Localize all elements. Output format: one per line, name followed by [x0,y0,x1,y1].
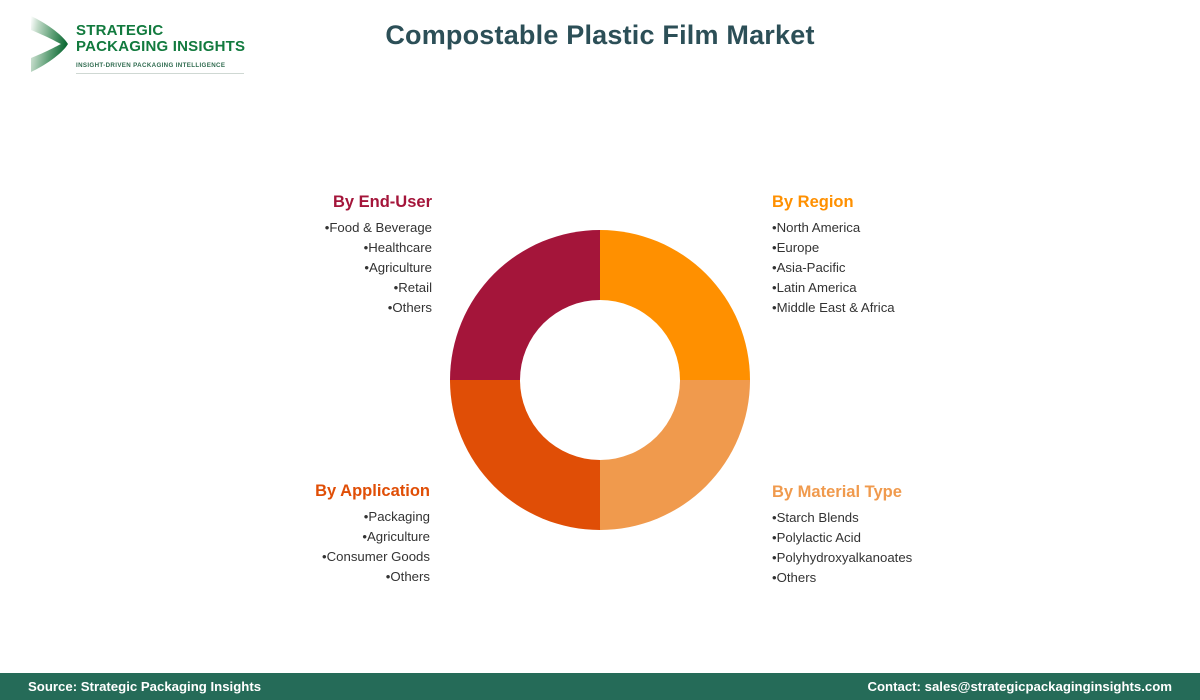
category-title-material-type: By Material Type [772,483,1102,502]
page-title: Compostable Plastic Film Market [0,20,1200,51]
category-list-material-type: Starch Blends Polylactic Acid Polyhydrox… [772,508,1102,588]
category-title-region: By Region [772,193,1072,212]
list-item: Middle East & Africa [772,298,1072,318]
list-item: Retail [180,278,432,298]
category-application: By Application Packaging Agriculture Con… [130,482,430,587]
list-item: Polyhydroxyalkanoates [772,548,1102,568]
list-item: Asia-Pacific [772,258,1072,278]
donut-center-hole [520,300,680,460]
category-material-type: By Material Type Starch Blends Polylacti… [772,483,1102,588]
logo-tagline: INSIGHT-DRIVEN PACKAGING INTELLIGENCE [76,62,245,69]
list-item: Consumer Goods [130,547,430,567]
footer-source: Source: Strategic Packaging Insights [28,679,261,694]
logo-divider [76,73,244,74]
category-list-end-user: Food & Beverage Healthcare Agriculture R… [180,218,432,318]
category-title-application: By Application [130,482,430,501]
list-item: Latin America [772,278,1072,298]
donut-chart [450,230,750,530]
category-region: By Region North America Europe Asia-Paci… [772,193,1072,318]
list-item: Others [130,567,430,587]
market-infographic-page: STRATEGIC PACKAGING INSIGHTS INSIGHT-DRI… [0,0,1200,700]
list-item: Others [180,298,432,318]
list-item: Food & Beverage [180,218,432,238]
category-end-user: By End-User Food & Beverage Healthcare A… [180,193,432,318]
category-list-application: Packaging Agriculture Consumer Goods Oth… [130,507,430,587]
category-title-end-user: By End-User [180,193,432,212]
list-item: North America [772,218,1072,238]
list-item: Others [772,568,1102,588]
list-item: Packaging [130,507,430,527]
list-item: Agriculture [180,258,432,278]
list-item: Agriculture [130,527,430,547]
footer-bar: Source: Strategic Packaging Insights Con… [0,673,1200,700]
list-item: Starch Blends [772,508,1102,528]
footer-contact[interactable]: Contact: sales@strategicpackaginginsight… [867,679,1172,694]
category-list-region: North America Europe Asia-Pacific Latin … [772,218,1072,318]
list-item: Europe [772,238,1072,258]
list-item: Healthcare [180,238,432,258]
list-item: Polylactic Acid [772,528,1102,548]
